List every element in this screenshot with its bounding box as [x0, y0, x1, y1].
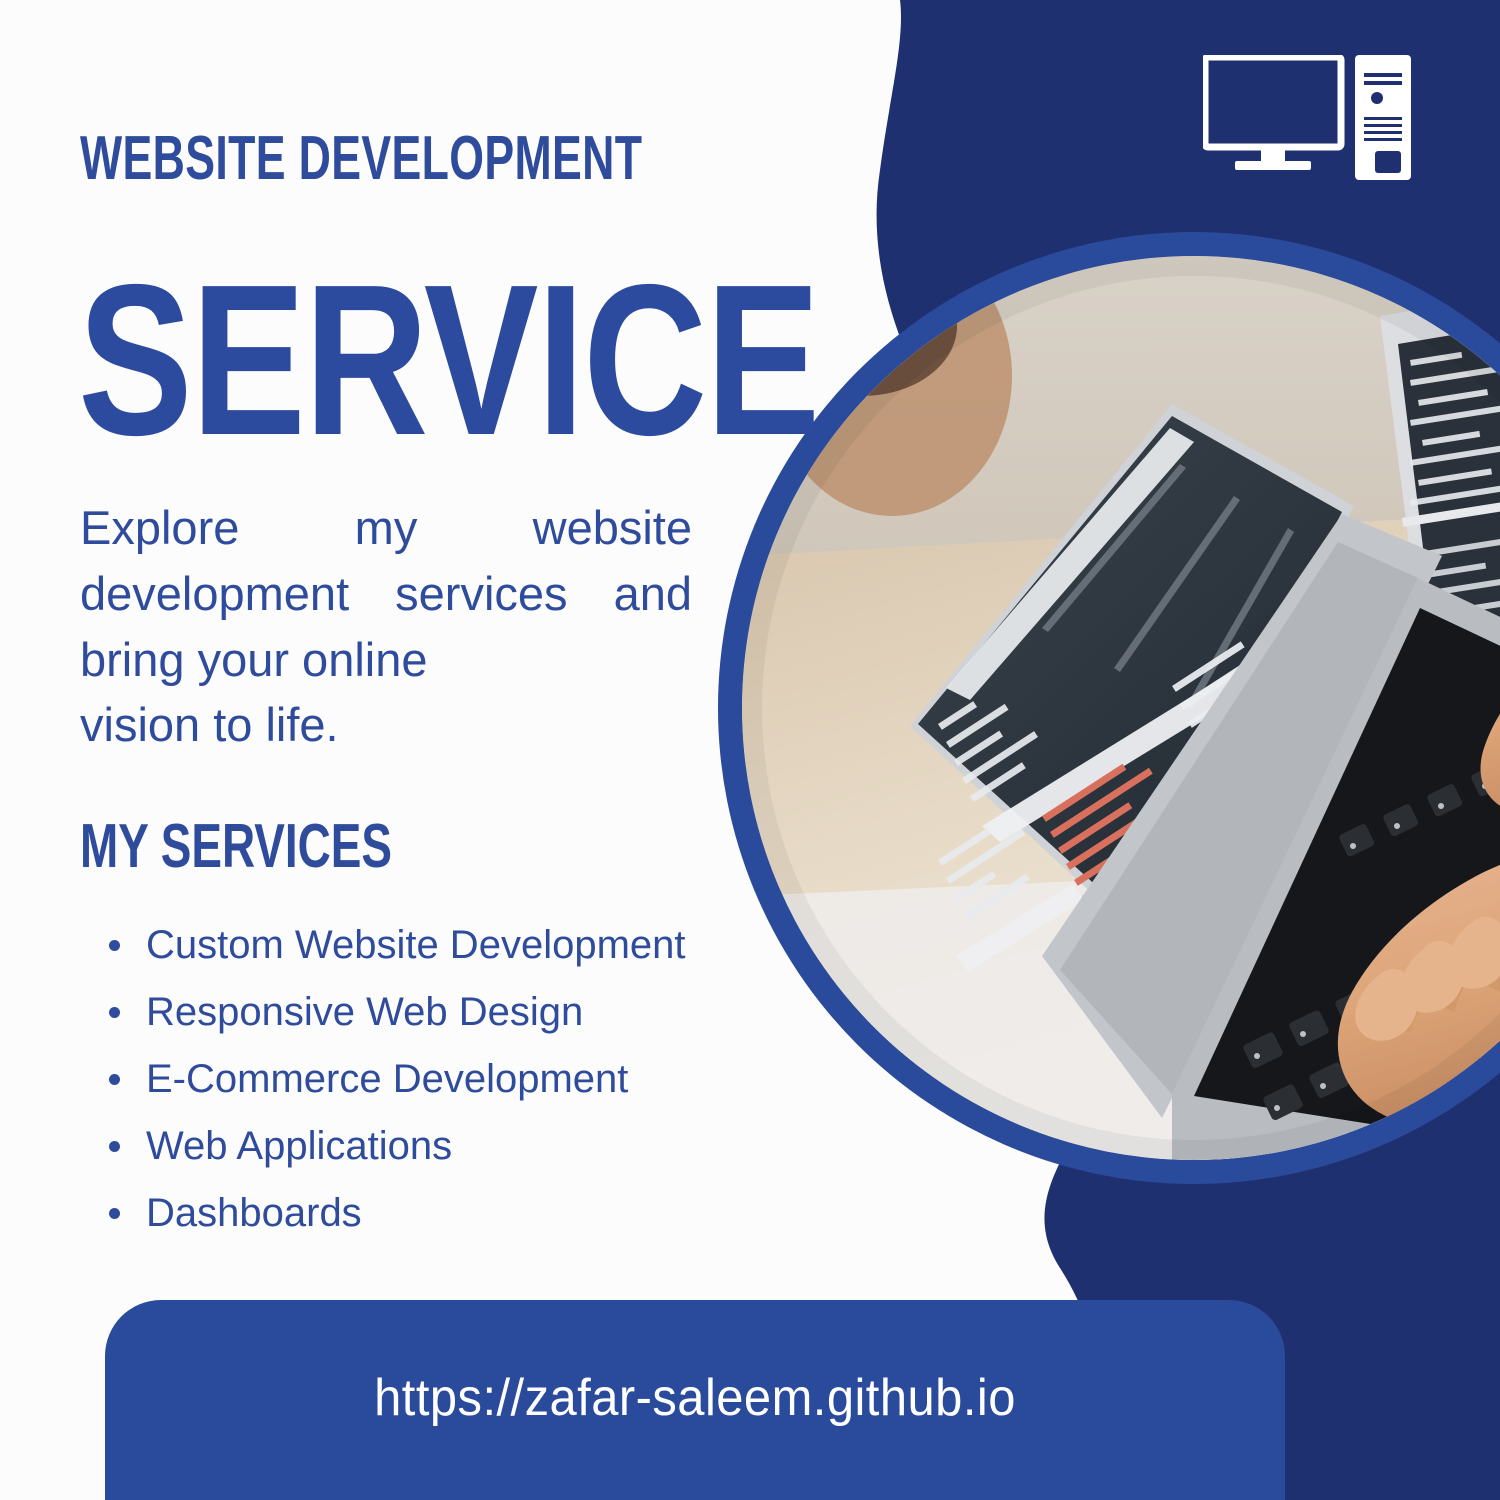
list-item: Dashboards — [100, 1193, 740, 1233]
photo-ring — [718, 232, 1500, 1184]
footer-banner: https://zafar-saleem.github.io — [105, 1300, 1285, 1500]
service-label: E-Commerce Development — [146, 1057, 628, 1101]
service-label: Web Applications — [146, 1124, 452, 1168]
bullet-icon — [109, 940, 120, 951]
coding-laptop-photo — [742, 256, 1500, 1160]
bullet-icon — [109, 1074, 120, 1085]
list-item: Custom Website Development — [100, 925, 740, 965]
portfolio-url-link[interactable]: https://zafar-saleem.github.io — [140, 1372, 1249, 1424]
intro-paragraph: Explore my website development services … — [80, 495, 692, 758]
service-label: Custom Website Development — [146, 923, 686, 967]
eyebrow-heading: WEBSITE DEVELOPMENT — [80, 128, 642, 190]
bullet-icon — [109, 1141, 120, 1152]
photo-illustration — [742, 256, 1500, 1160]
page-title: SERVICE — [78, 252, 819, 467]
list-item: E-Commerce Development — [100, 1059, 740, 1099]
poster-canvas: WEBSITE DEVELOPMENT SERVICE Explore my w… — [0, 0, 1500, 1500]
list-item: Web Applications — [100, 1126, 740, 1166]
list-item: Responsive Web Design — [100, 992, 740, 1032]
intro-line-1: Explore my website — [80, 501, 692, 554]
desktop-computer-icon — [1203, 55, 1423, 180]
service-label: Responsive Web Design — [146, 990, 583, 1034]
services-list: Custom Website Development Responsive We… — [100, 925, 740, 1260]
bullet-icon — [109, 1007, 120, 1018]
services-heading: MY SERVICES — [80, 816, 392, 878]
bullet-icon — [109, 1208, 120, 1219]
service-label: Dashboards — [146, 1191, 362, 1235]
intro-line-4: vision to life. — [80, 692, 692, 758]
intro-line-2: development services — [80, 567, 568, 620]
